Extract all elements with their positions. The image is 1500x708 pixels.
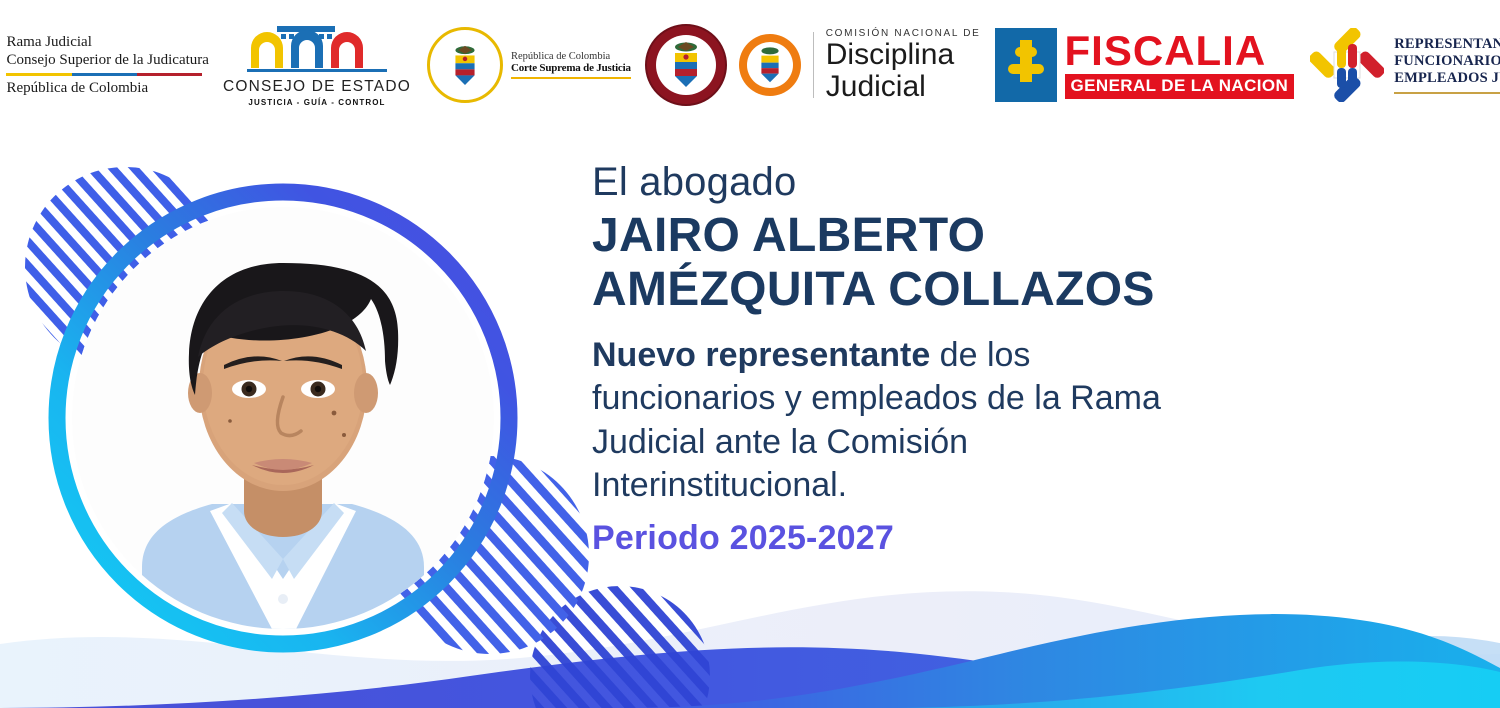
- vertical-divider: [813, 32, 814, 98]
- fiscalia-puzzle-icon: [995, 28, 1057, 102]
- coat-of-arms-shield-icon: [445, 41, 485, 89]
- gold-rule: [511, 77, 631, 80]
- rama-judicial-line3: República de Colombia: [6, 80, 208, 97]
- representante-line1: REPRESENTANTE DE: [1394, 36, 1500, 53]
- puzzle-piece-icon: [1006, 38, 1046, 92]
- fiscalia-text: FISCALIA GENERAL DE LA NACION: [1065, 31, 1295, 99]
- role-description-strong: Nuevo representante: [592, 336, 930, 374]
- consejo-de-estado-title: CONSEJO DE ESTADO: [223, 78, 411, 96]
- consejo-de-estado-subtitle: JUSTICIA - GUÍA - CONTROL: [248, 98, 385, 107]
- logo-rama-judicial: Rama Judicial Consejo Superior de la Jud…: [0, 28, 209, 102]
- person-name-line2: AMÉZQUITA COLLAZOS: [592, 263, 1292, 317]
- portrait-block: [10, 155, 570, 635]
- corte-suprema-line2: Corte Suprema de Justicia: [511, 62, 631, 74]
- representante-line2: FUNCIONARIOS Y: [1394, 53, 1500, 70]
- rama-judicial-line2: Consejo Superior de la Judicatura: [6, 51, 208, 69]
- disciplina-judicial-text: COMISIÓN NACIONAL DE Disciplina Judicial: [826, 28, 981, 101]
- logo-representante-funcionarios-empleados-judiciales: REPRESENTANTE DE FUNCIONARIOS Y EMPLEADO…: [1310, 28, 1500, 102]
- person-name: JAIRO ALBERTO AMÉZQUITA COLLAZOS: [592, 209, 1292, 317]
- period-text: Periodo 2025-2027: [592, 519, 1292, 558]
- rama-judicial-line1: Rama Judicial: [6, 33, 208, 51]
- infographic-canvas: Rama Judicial Consejo Superior de la Jud…: [0, 0, 1500, 708]
- rama-judicial-text: Rama Judicial Consejo Superior de la Jud…: [6, 33, 208, 98]
- tricolor-rule: [6, 73, 202, 76]
- consejo-de-estado-building-icon: [247, 24, 387, 76]
- role-description: Nuevo representante de los funcionarios …: [592, 334, 1212, 507]
- gold-rule: [1394, 92, 1500, 95]
- institutional-logo-bar: Rama Judicial Consejo Superior de la Jud…: [0, 0, 1500, 130]
- logo-corte-suprema-de-justicia: República de Colombia Corte Suprema de J…: [427, 27, 631, 103]
- logo-fiscalia-general-de-la-nacion: FISCALIA GENERAL DE LA NACION: [995, 28, 1295, 102]
- fiscalia-subtitle: GENERAL DE LA NACION: [1065, 74, 1295, 99]
- corte-constitucional-seal-icon: [645, 24, 727, 106]
- portrait-photo: [72, 207, 494, 629]
- representante-text: REPRESENTANTE DE FUNCIONARIOS Y EMPLEADO…: [1394, 36, 1500, 95]
- coat-of-arms-shield-icon: [752, 44, 788, 86]
- kicker-text: El abogado: [592, 160, 1292, 205]
- corte-suprema-text: República de Colombia Corte Suprema de J…: [511, 51, 631, 80]
- coat-of-arms-shield-icon: [663, 39, 709, 91]
- logo-corte-constitucional: [645, 24, 727, 106]
- portrait-illustration: [72, 207, 494, 629]
- logo-comision-nacional-de-disciplina-judicial: COMISIÓN NACIONAL DE Disciplina Judicial: [739, 28, 981, 101]
- corte-suprema-line1: República de Colombia: [511, 51, 631, 62]
- disciplina-judicial-seal-icon: [739, 34, 801, 96]
- interlocking-hands-icon: [1310, 28, 1384, 102]
- disciplina-judicial-line2: Judicial: [826, 71, 981, 102]
- fiscalia-title: FISCALIA: [1065, 31, 1295, 71]
- corte-suprema-seal-icon: [427, 27, 503, 103]
- person-name-line1: JAIRO ALBERTO: [592, 209, 1292, 263]
- logo-consejo-de-estado: CONSEJO DE ESTADO JUSTICIA - GUÍA - CONT…: [223, 24, 411, 107]
- headline-block: El abogado JAIRO ALBERTO AMÉZQUITA COLLA…: [592, 160, 1292, 558]
- representante-line3: EMPLEADOS JUDICIALES: [1394, 70, 1500, 87]
- disciplina-judicial-line1: Disciplina: [826, 39, 981, 70]
